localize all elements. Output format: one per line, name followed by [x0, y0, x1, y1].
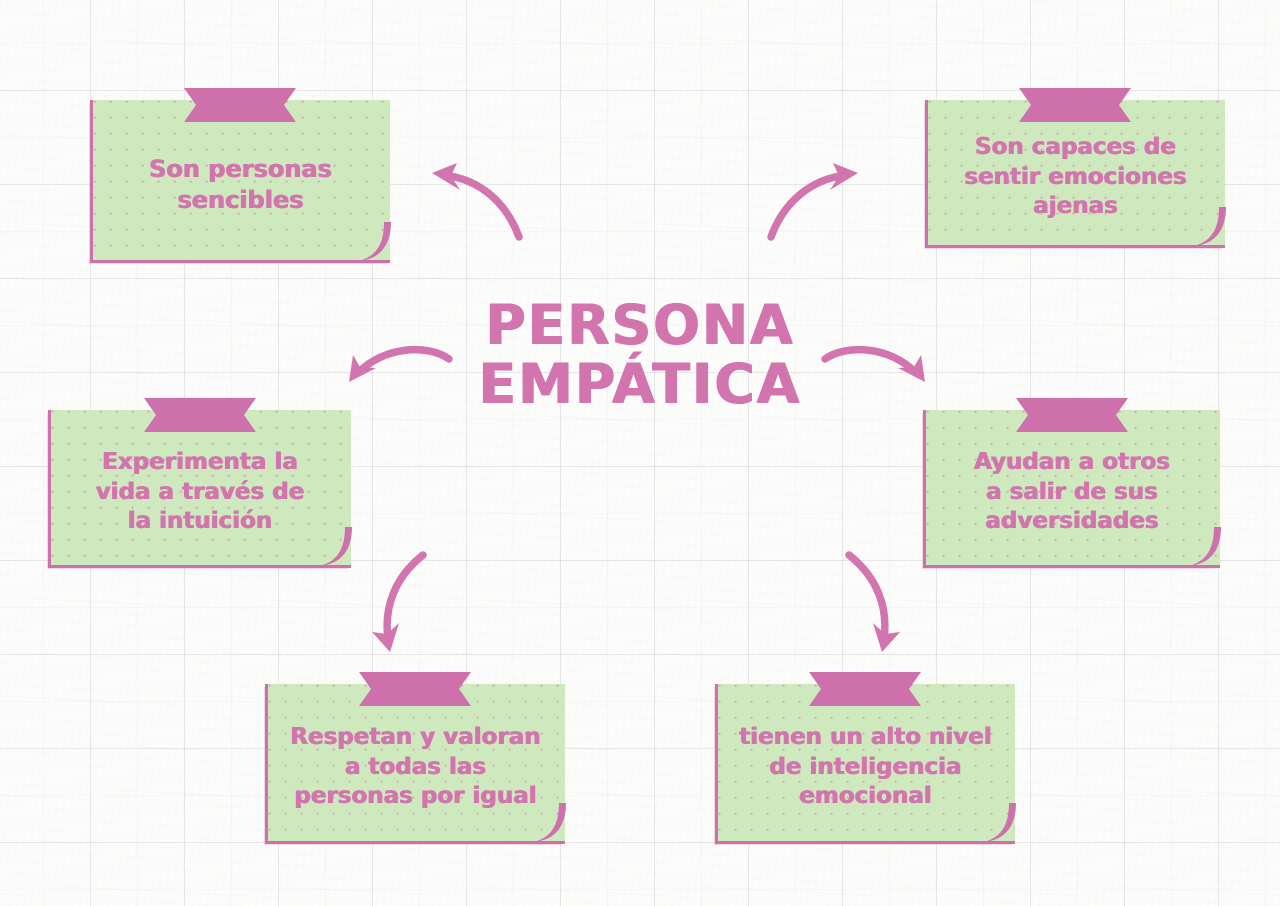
card-text: Respetan y valoran a todas las personas …	[278, 684, 553, 841]
card-text-line: de inteligencia	[769, 753, 961, 782]
ribbon-banner-icon	[1016, 398, 1128, 432]
card-text-line: ajenas	[1033, 192, 1118, 221]
folded-corner-icon	[357, 222, 391, 262]
card-text-line: Son personas	[149, 154, 332, 185]
folded-corner-icon	[1192, 207, 1226, 247]
card-body: Son personas sencibles	[90, 100, 390, 263]
card-text: Experimenta la vida a través de la intui…	[61, 410, 339, 565]
node-card-adversidades[interactable]: Ayudan a otros a salir de sus adversidad…	[923, 398, 1220, 568]
card-body: Ayudan a otros a salir de sus adversidad…	[923, 410, 1220, 568]
card-text-line: sencibles	[177, 185, 303, 216]
folded-corner-icon	[532, 803, 566, 843]
ribbon-banner-icon	[809, 672, 921, 706]
card-text-line: vida a través de	[96, 478, 305, 507]
card-body: Respetan y valoran a todas las personas …	[265, 684, 565, 844]
center-title-line-2: EMPÁTICA	[430, 355, 850, 414]
node-card-emociones-ajenas[interactable]: Son capaces de sentir emociones ajenas	[925, 88, 1225, 248]
card-text-line: a todas las	[345, 753, 486, 782]
card-text-line: la intuición	[128, 507, 273, 536]
node-card-respeto[interactable]: Respetan y valoran a todas las personas …	[265, 672, 565, 844]
card-body: Experimenta la vida a través de la intui…	[48, 410, 351, 568]
center-title-line-1: PERSONA	[430, 296, 850, 355]
card-text-line: adversidades	[985, 507, 1158, 536]
folded-corner-icon	[1187, 527, 1221, 567]
card-text-line: Respetan y valoran	[290, 723, 540, 752]
card-text-line: Son capaces de	[975, 133, 1176, 162]
ribbon-banner-icon	[1019, 88, 1131, 122]
card-body: tienen un alto nivel de inteligencia emo…	[715, 684, 1015, 844]
ribbon-banner-icon	[144, 398, 256, 432]
card-text-line: sentir emociones	[964, 163, 1186, 192]
card-text-line: personas por igual	[294, 782, 536, 811]
mindmap-canvas: PERSONA EMPÁTICA	[0, 0, 1280, 906]
node-card-inteligencia-emocional[interactable]: tienen un alto nivel de inteligencia emo…	[715, 672, 1015, 844]
arrow-to-bottom-right	[832, 550, 904, 658]
node-card-sensibles[interactable]: Son personas sencibles	[90, 88, 390, 263]
center-title: PERSONA EMPÁTICA	[430, 296, 850, 415]
arrow-to-bottom-left	[368, 550, 440, 658]
card-body: Son capaces de sentir emociones ajenas	[925, 100, 1225, 248]
folded-corner-icon	[318, 527, 352, 567]
ribbon-banner-icon	[184, 88, 296, 122]
ribbon-banner-icon	[359, 672, 471, 706]
card-text: tienen un alto nivel de inteligencia emo…	[728, 684, 1003, 841]
node-card-intuicion[interactable]: Experimenta la vida a través de la intui…	[48, 398, 351, 568]
card-text-line: a salir de sus	[986, 478, 1158, 507]
arrow-to-top-left	[415, 160, 525, 240]
card-text-line: Experimenta la	[102, 448, 298, 477]
card-text: Ayudan a otros a salir de sus adversidad…	[936, 410, 1208, 565]
card-text-line: tienen un alto nivel	[739, 723, 992, 752]
card-text-line: Ayudan a otros	[974, 448, 1170, 477]
card-text: Son personas sencibles	[103, 100, 378, 260]
card-text-line: emocional	[799, 782, 931, 811]
arrow-to-top-right	[765, 160, 875, 240]
folded-corner-icon	[982, 803, 1016, 843]
